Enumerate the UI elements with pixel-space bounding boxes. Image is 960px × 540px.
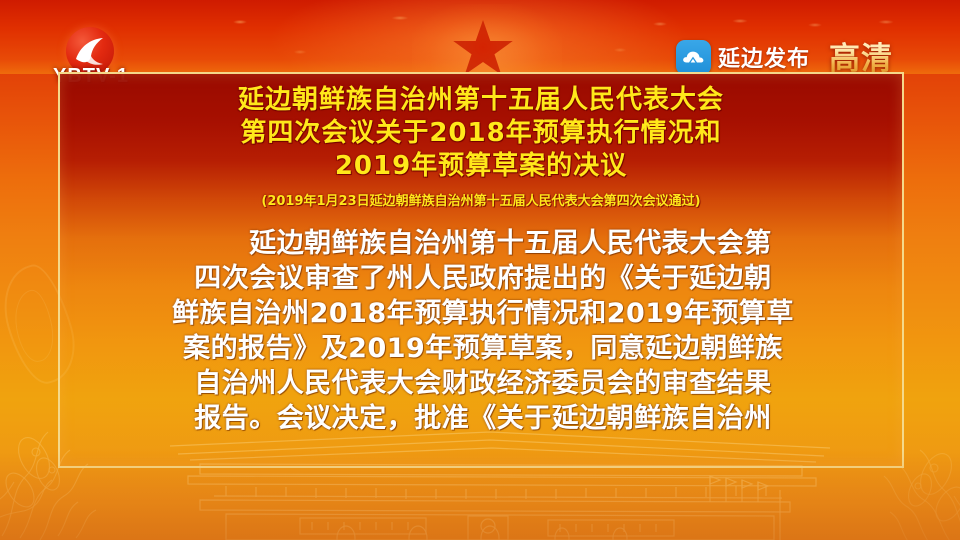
document-panel: 延边朝鲜族自治州第十五届人民代表大会 第四次会议关于2018年预算执行情况和 2…	[58, 72, 904, 468]
body-line-6: 报告。会议决定，批准《关于延边朝鲜族自治州	[68, 401, 898, 436]
document-body: 延边朝鲜族自治州第十五届人民代表大会第 四次会议审查了州人民政府提出的《关于延边…	[68, 226, 898, 436]
title-line-2: 第四次会议关于2018年预算执行情况和	[60, 117, 902, 150]
document-title: 延边朝鲜族自治州第十五届人民代表大会 第四次会议关于2018年预算执行情况和 2…	[60, 84, 902, 209]
swirl-ornament-inner	[10, 287, 58, 364]
body-line-2: 四次会议审查了州人民政府提出的《关于延边朝	[68, 261, 898, 296]
title-line-3: 2019年预算草案的决议	[60, 150, 902, 183]
broadcast-screen: YBTV-1 延边发布 高清 延边朝鲜族自治州第十五届人民代表大会 第四次会议关…	[0, 0, 960, 540]
publisher-name: 延边发布	[718, 41, 810, 73]
body-line-3: 鲜族自治州2018年预算执行情况和2019年预算草	[68, 296, 898, 331]
title-line-1: 延边朝鲜族自治州第十五届人民代表大会	[60, 84, 902, 117]
body-line-4: 案的报告》及2019年预算草案，同意延边朝鲜族	[68, 331, 898, 366]
body-line-1: 延边朝鲜族自治州第十五届人民代表大会第	[68, 226, 898, 261]
publisher-badge: 延边发布	[676, 38, 810, 76]
yanbian-cloud-mountain-icon	[676, 40, 711, 75]
document-subtitle: (2019年1月23日延边朝鲜族自治州第十五届人民代表大会第四次会议通过)	[60, 190, 902, 209]
body-line-5: 自治州人民代表大会财政经济委员会的审查结果	[68, 366, 898, 401]
